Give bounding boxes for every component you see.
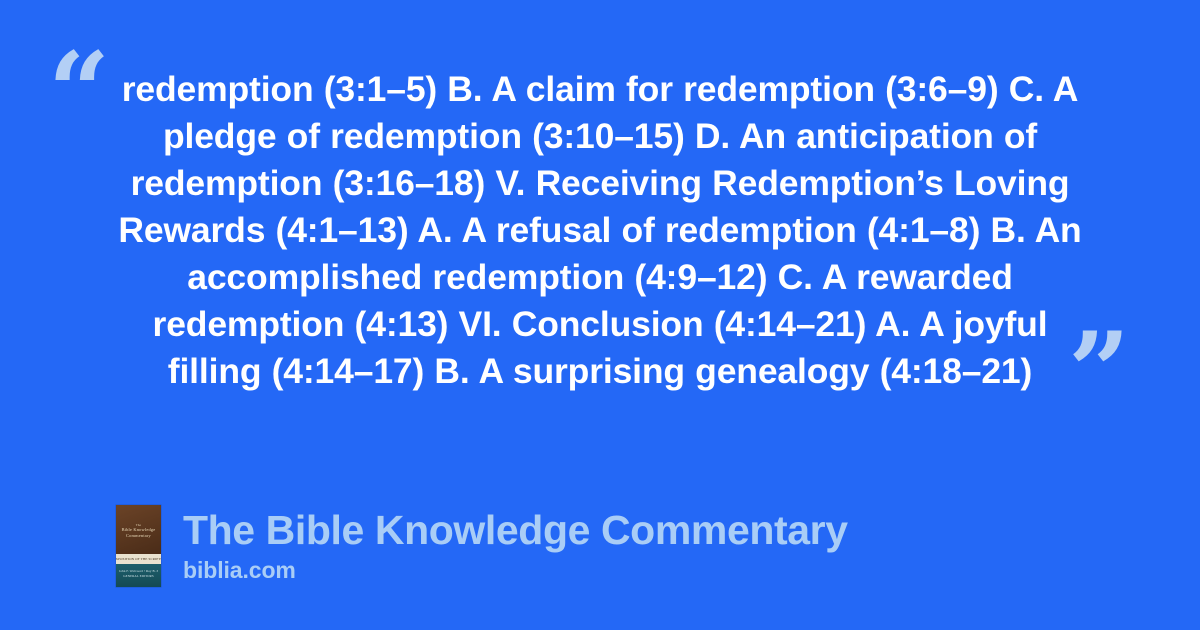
close-quote-icon: ” — [1068, 318, 1130, 426]
book-cover-band: AN EXPOSITION OF THE SCRIPTURES — [116, 554, 161, 564]
book-cover-authors-role: GENERAL EDITORS — [119, 574, 158, 579]
quote-card: “ redemption (3:1–5) B. A claim for rede… — [0, 0, 1200, 470]
book-cover-title: The Bible Knowledge Commentary — [121, 523, 156, 539]
book-cover-thumbnail: The Bible Knowledge Commentary AN EXPOSI… — [116, 505, 161, 587]
open-quote-icon: “ — [48, 38, 110, 146]
source-title: The Bible Knowledge Commentary — [183, 507, 848, 554]
source-attribution: The Bible Knowledge Commentary AN EXPOSI… — [116, 505, 848, 587]
source-site: biblia.com — [183, 556, 848, 584]
source-text-block: The Bible Knowledge Commentary biblia.co… — [183, 505, 848, 584]
book-cover-title-line-3: Commentary — [121, 533, 156, 539]
book-cover-authors: John F. Walvoord • Roy B. Zuck GENERAL E… — [119, 569, 158, 579]
book-cover-band-text: AN EXPOSITION OF THE SCRIPTURES — [116, 557, 161, 561]
quote-text: redemption (3:1–5) B. A claim for redemp… — [110, 66, 1090, 395]
